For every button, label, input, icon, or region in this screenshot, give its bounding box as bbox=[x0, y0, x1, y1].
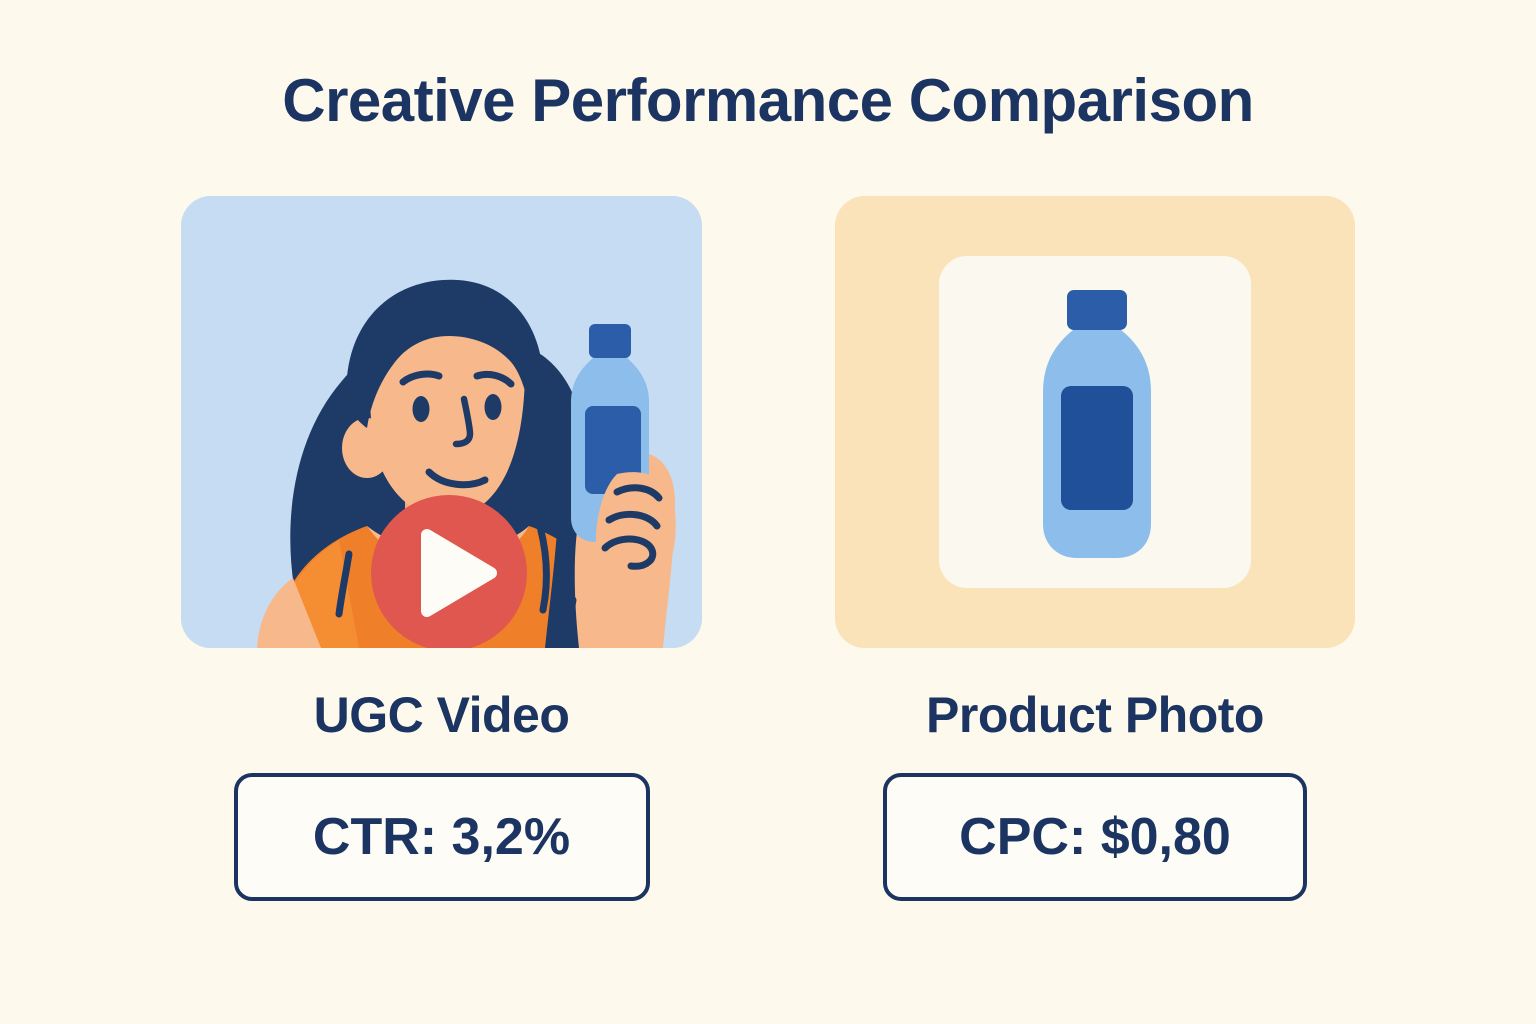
metric-badge-ctr[interactable]: CTR: 3,2% bbox=[234, 773, 650, 901]
product-photo-card[interactable] bbox=[835, 196, 1355, 648]
metric-value-cpc: CPC: $0,80 bbox=[959, 807, 1231, 867]
comparison-page: Creative Performance Comparison bbox=[0, 0, 1536, 1024]
page-title: Creative Performance Comparison bbox=[0, 68, 1536, 134]
creative-label-product-photo: Product Photo bbox=[835, 686, 1355, 744]
play-icon bbox=[371, 495, 527, 648]
creative-column-ugc-video: UGC Video CTR: 3,2% bbox=[181, 196, 702, 901]
ugc-video-card[interactable] bbox=[181, 196, 702, 648]
creative-column-product-photo: Product Photo CPC: $0,80 bbox=[835, 196, 1355, 901]
ugc-video-illustration bbox=[181, 196, 702, 648]
metric-value-ctr: CTR: 3,2% bbox=[313, 807, 570, 867]
product-photo-illustration bbox=[835, 196, 1355, 648]
metric-badge-cpc[interactable]: CPC: $0,80 bbox=[883, 773, 1307, 901]
creative-label-ugc-video: UGC Video bbox=[181, 686, 702, 744]
